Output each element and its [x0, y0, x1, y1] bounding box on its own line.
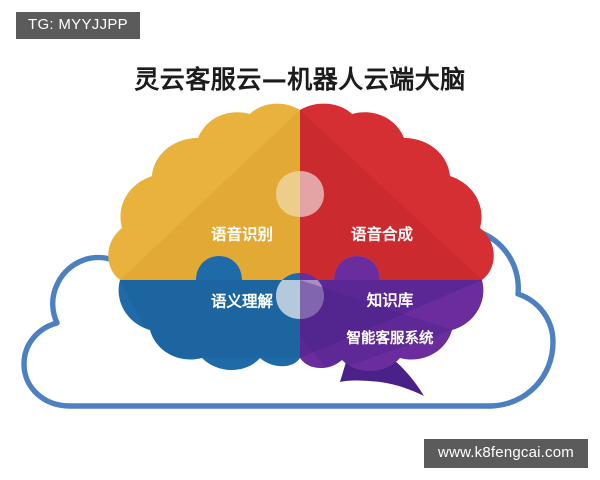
puzzle-piece-speech-recognition[interactable]	[108, 104, 300, 280]
screenshot-canvas: TG: MYYJJPP 灵云客服云—机器人云端大脑	[0, 0, 600, 480]
label-speech-synthesis: 语音合成	[351, 225, 414, 244]
page-title: 灵云客服云—机器人云端大脑	[0, 66, 600, 95]
label-knowledge-base: 知识库	[367, 291, 414, 310]
label-semantic-understanding: 语义理解	[211, 292, 274, 311]
site-watermark-badge: www.k8fengcai.com	[424, 439, 588, 468]
label-intelligent-customer-service-system: 智能客服系统	[347, 329, 434, 347]
cloud-brain-diagram: 语音识别 语音合成 语义理解 知识库 智能客服系统	[0, 96, 600, 426]
tg-watermark-badge: TG: MYYJJPP	[16, 12, 140, 39]
label-speech-recognition: 语音识别	[211, 225, 273, 244]
puzzle-brain-graphic: 语音识别 语音合成 语义理解 知识库 智能客服系统	[108, 104, 494, 396]
puzzle-piece-speech-synthesis[interactable]	[300, 104, 494, 280]
